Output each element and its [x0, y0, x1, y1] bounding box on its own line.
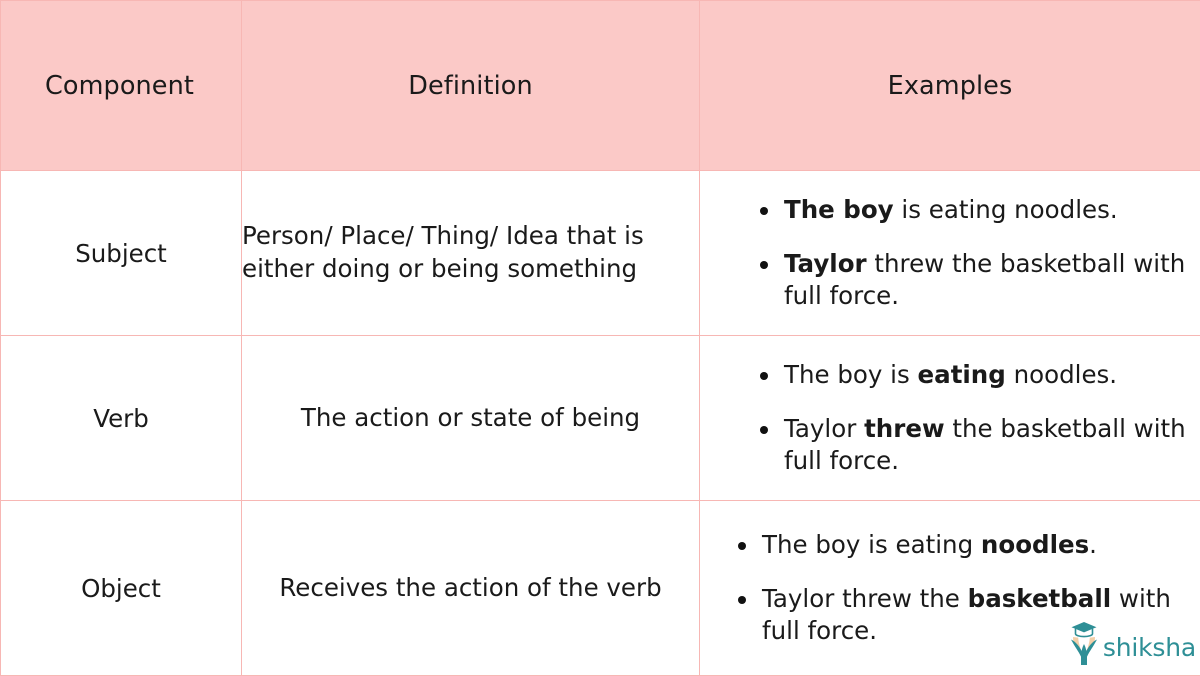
- example-text: is eating noodles.: [894, 195, 1118, 224]
- grammar-components-table: Component Definition Examples Subject Pe…: [0, 0, 1200, 676]
- example-bold-term: basketball: [968, 584, 1111, 613]
- example-bold-term: eating: [918, 360, 1006, 389]
- column-header-component: Component: [1, 1, 242, 171]
- example-text-pre: Taylor: [784, 414, 864, 443]
- shiksha-wordmark: shiksha: [1103, 635, 1196, 666]
- cell-component-subject: Subject: [1, 171, 242, 336]
- cell-definition-verb: The action or state of being: [242, 336, 700, 501]
- example-bold-term: threw: [864, 414, 945, 443]
- column-header-definition: Definition: [242, 1, 700, 171]
- cell-examples-object: The boy is eating noodles. Taylor threw …: [700, 501, 1200, 676]
- list-item: Taylor threw the basketball with full fo…: [760, 413, 1186, 477]
- cell-examples-verb: The boy is eating noodles. Taylor threw …: [700, 336, 1200, 501]
- cell-component-object: Object: [1, 501, 242, 676]
- example-text-pre: The boy is: [784, 360, 918, 389]
- example-text: noodles.: [1006, 360, 1117, 389]
- list-item: Taylor threw the basketball with full fo…: [760, 248, 1186, 312]
- table-body: Subject Person/ Place/ Thing/ Idea that …: [1, 171, 1200, 676]
- example-text-pre: Taylor threw the: [762, 584, 968, 613]
- example-text-pre: The boy is eating: [762, 530, 981, 559]
- cell-definition-subject: Person/ Place/ Thing/ Idea that is eithe…: [242, 171, 700, 336]
- cell-component-verb: Verb: [1, 336, 242, 501]
- example-bold-term: noodles: [981, 530, 1089, 559]
- column-header-examples: Examples: [700, 1, 1200, 171]
- list-item: The boy is eating noodles.: [760, 359, 1186, 391]
- table-row: Subject Person/ Place/ Thing/ Idea that …: [1, 171, 1200, 336]
- example-text: .: [1089, 530, 1097, 559]
- cell-examples-subject: The boy is eating noodles. Taylor threw …: [700, 171, 1200, 336]
- table-row: Verb The action or state of being The bo…: [1, 336, 1200, 501]
- table-row: Object Receives the action of the verb T…: [1, 501, 1200, 676]
- shiksha-logo[interactable]: shiksha: [1066, 618, 1196, 666]
- table-header: Component Definition Examples: [1, 1, 1200, 171]
- list-item: The boy is eating noodles.: [738, 529, 1186, 561]
- cell-definition-object: Receives the action of the verb: [242, 501, 700, 676]
- list-item: The boy is eating noodles.: [760, 194, 1186, 226]
- example-bold-term: Taylor: [784, 249, 867, 278]
- header-row: Component Definition Examples: [1, 1, 1200, 171]
- example-list: The boy is eating noodles. Taylor threw …: [700, 194, 1200, 312]
- example-list: The boy is eating noodles. Taylor threw …: [700, 359, 1200, 477]
- example-bold-term: The boy: [784, 195, 894, 224]
- table-sheet: Component Definition Examples Subject Pe…: [0, 0, 1200, 675]
- graduation-cap-icon: [1066, 620, 1102, 666]
